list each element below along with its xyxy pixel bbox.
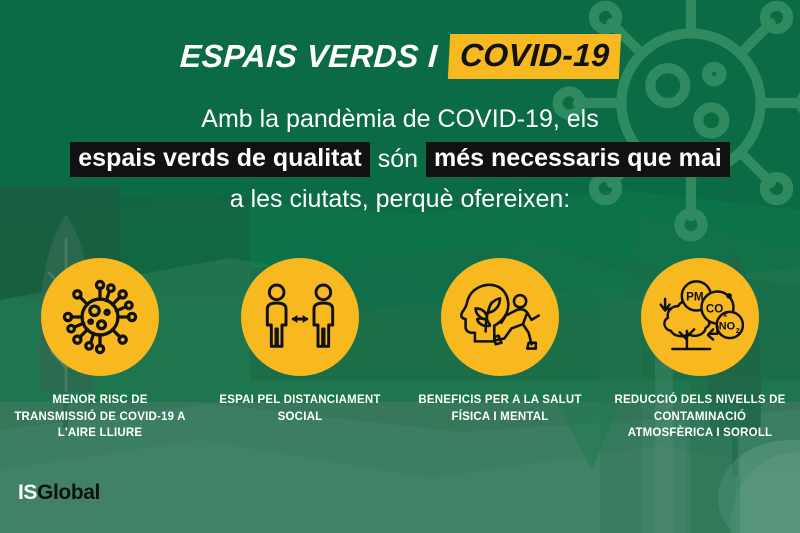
no2-label: NO <box>719 320 736 332</box>
title-covid-badge: COVID-19 <box>447 34 621 79</box>
benefit-icon-circle <box>241 258 359 376</box>
subtitle-block: Amb la pandèmia de COVID-19, els espais … <box>0 106 800 213</box>
subtitle-line-3-text: a les ciutats, perquè ofereixen: <box>230 186 570 213</box>
virus-icon <box>61 278 139 356</box>
pm-label: PM <box>686 290 703 303</box>
benefit-item-transmission: MENOR RISC DE TRANSMISSIÓ DE COVID-19 A … <box>0 258 200 442</box>
subtitle-connector-text: són <box>378 146 418 173</box>
benefit-icon-circle <box>41 258 159 376</box>
logo-is-text: IS <box>18 481 37 504</box>
no2-subscript: 2 <box>736 326 740 335</box>
mental-physical-health-icon <box>457 278 543 356</box>
subtitle-line-1: Amb la pandèmia de COVID-19, els <box>0 106 800 133</box>
co2-subscript: 2 <box>723 309 727 318</box>
benefit-item-pollution: PM CO 2 NO 2 REDUCCIÓ DELS NIVELLS DE CO… <box>600 258 800 442</box>
logo-global-text: Global <box>37 481 100 504</box>
benefit-item-distancing: ESPAI PEL DISTANCIAMENT SOCIAL <box>200 258 400 442</box>
subtitle-line-3: a les ciutats, perquè ofereixen: <box>0 186 800 213</box>
benefit-caption: BENEFICIS PER A LA SALUT FÍSICA I MENTAL <box>412 392 588 425</box>
page-title: ESPAIS VERDS I COVID-19 <box>0 34 800 79</box>
subtitle-line-2: espais verds de qualitat són més necessa… <box>0 142 800 177</box>
benefits-row: MENOR RISC DE TRANSMISSIÓ DE COVID-19 A … <box>0 258 800 442</box>
subtitle-highlight-green-spaces: espais verds de qualitat <box>70 142 369 177</box>
pollution-reduction-icon: PM CO 2 NO 2 <box>656 277 744 357</box>
benefit-icon-circle <box>441 258 559 376</box>
subtitle-line-1-text: Amb la pandèmia de COVID-19, els <box>201 106 598 133</box>
benefit-item-health: BENEFICIS PER A LA SALUT FÍSICA I MENTAL <box>400 258 600 442</box>
isglobal-logo: ISGlobal <box>18 481 100 505</box>
infographic-canvas: ESPAIS VERDS I COVID-19 Amb la pandèmia … <box>0 0 800 533</box>
social-distancing-icon <box>260 282 340 352</box>
benefit-icon-circle: PM CO 2 NO 2 <box>641 258 759 376</box>
co2-label: CO <box>706 303 723 316</box>
benefit-caption: REDUCCIÓ DELS NIVELLS DE CONTAMINACIÓ AT… <box>612 392 788 442</box>
subtitle-highlight-more-necessary: més necessaris que mai <box>426 142 730 177</box>
benefit-caption: MENOR RISC DE TRANSMISSIÓ DE COVID-19 A … <box>12 392 188 442</box>
benefit-caption: ESPAI PEL DISTANCIAMENT SOCIAL <box>212 392 388 425</box>
title-plain-text: ESPAIS VERDS I <box>179 38 438 75</box>
